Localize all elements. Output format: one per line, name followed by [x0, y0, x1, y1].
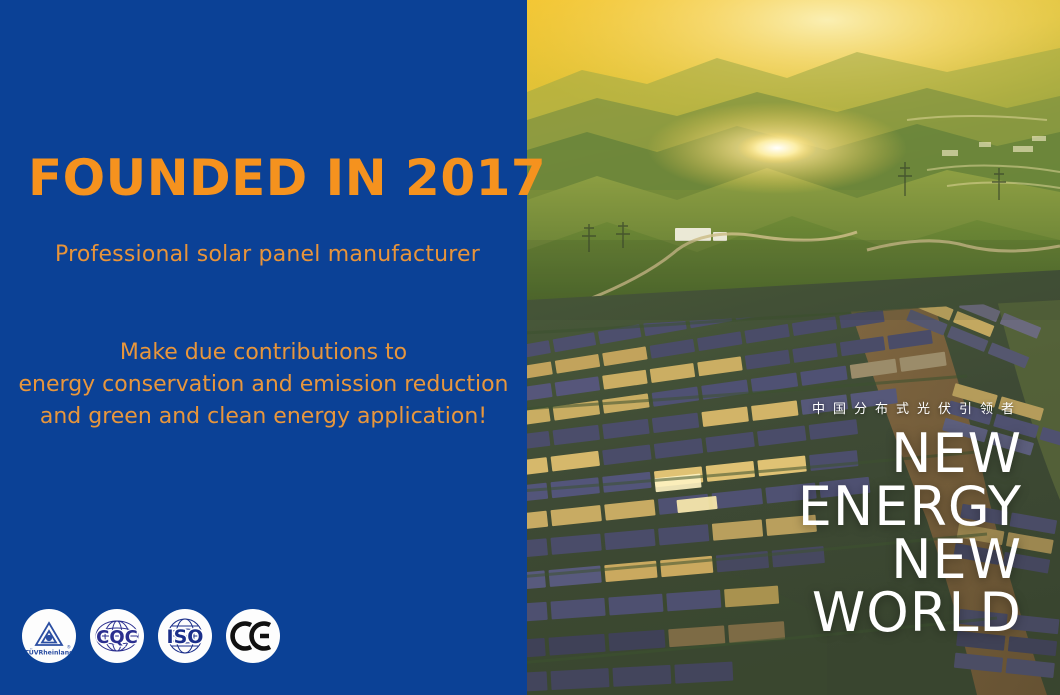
headline: FOUNDED IN 2017 — [28, 152, 528, 205]
promo-banner: FOUNDED IN 2017 Professional solar panel… — [0, 0, 1060, 695]
slogan-line-3: NEW — [798, 534, 1022, 587]
solar-farm-photo: 中国分布式光伏引领者 NEW ENERGY NEW WORLD — [527, 0, 1060, 695]
certification-badges: TÜVRheinland ® CQC — [22, 609, 280, 663]
ce-mark-icon — [226, 609, 280, 663]
svg-text:®: ® — [67, 644, 72, 651]
tuv-rheinland-icon: TÜVRheinland ® — [22, 609, 76, 663]
iso-icon: ISO — [158, 609, 212, 663]
subheadline: Professional solar panel manufacturer — [55, 242, 525, 267]
left-info-panel: FOUNDED IN 2017 Professional solar panel… — [0, 0, 527, 695]
slogan: NEW ENERGY NEW WORLD — [798, 428, 1022, 640]
mission-line-3: and green and clean energy application! — [0, 401, 527, 433]
svg-text:ISO: ISO — [167, 626, 204, 648]
badge-tuv-rheinland: TÜVRheinland ® — [22, 609, 76, 663]
badge-cqc: CQC — [90, 609, 144, 663]
mission-statement: Make due contributions to energy conserv… — [0, 337, 527, 433]
slogan-line-2: ENERGY — [798, 481, 1022, 534]
chinese-tagline: 中国分布式光伏引领者 — [804, 398, 1022, 417]
badge-iso: ISO — [158, 609, 212, 663]
slogan-line-1: NEW — [798, 428, 1022, 481]
cqc-icon: CQC — [90, 609, 144, 663]
badge-ce — [226, 609, 280, 663]
mission-line-2: energy conservation and emission reducti… — [0, 369, 527, 401]
slogan-line-4: WORLD — [798, 587, 1022, 640]
svg-text:CQC: CQC — [96, 627, 138, 648]
mission-line-1: Make due contributions to — [0, 337, 527, 369]
